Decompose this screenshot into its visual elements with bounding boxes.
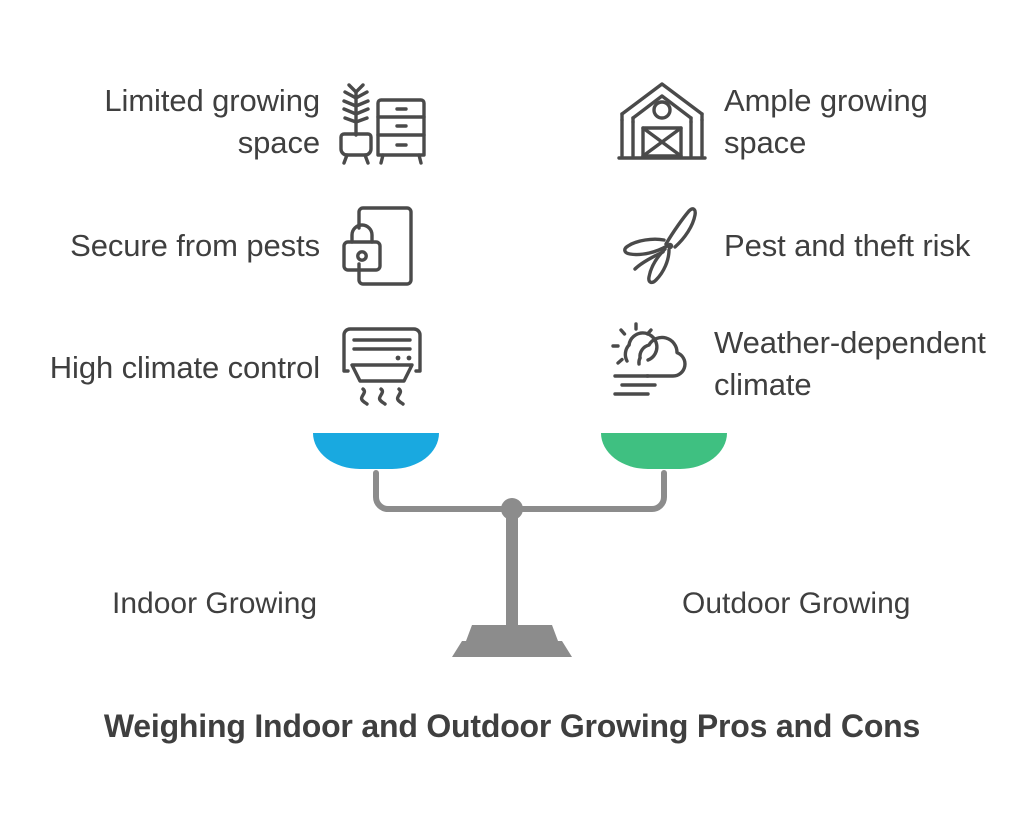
feature-label: High climate control (50, 347, 320, 389)
feature-row-high-climate-control: High climate control (40, 322, 430, 414)
feature-label: Limited growing space (40, 80, 320, 164)
scale-column (506, 517, 518, 637)
scale-base-upper (466, 625, 558, 641)
feature-row-secure-from-pests: Secure from pests (40, 200, 430, 292)
fulcrum-knob (501, 498, 523, 520)
sun-cloud-icon (604, 318, 700, 410)
pruning-shears-icon (614, 200, 710, 292)
feature-label: Weather-dependent climate (714, 322, 1004, 406)
feature-row-pest-and-theft-risk: Pest and theft risk (614, 200, 1004, 292)
feature-label: Pest and theft risk (724, 225, 970, 267)
plant-and-dresser-icon (334, 76, 430, 168)
infographic-canvas: Limited growing space (0, 0, 1024, 836)
feature-row-limited-growing-space: Limited growing space (40, 76, 430, 168)
scale-base-lower (452, 641, 572, 657)
indoor-growing-caption: Indoor Growing (112, 587, 317, 621)
feature-label: Secure from pests (70, 225, 320, 267)
barn-icon (614, 76, 710, 168)
page-title: Weighing Indoor and Outdoor Growing Pros… (0, 708, 1024, 745)
feature-row-ample-growing-space: Ample growing space (614, 76, 1004, 168)
outdoor-growing-caption: Outdoor Growing (682, 587, 910, 621)
feature-label: Ample growing space (724, 80, 1004, 164)
padlock-door-icon (334, 200, 430, 292)
air-conditioner-icon (334, 322, 430, 414)
feature-row-weather-dependent-climate: Weather-dependent climate (604, 318, 1004, 410)
